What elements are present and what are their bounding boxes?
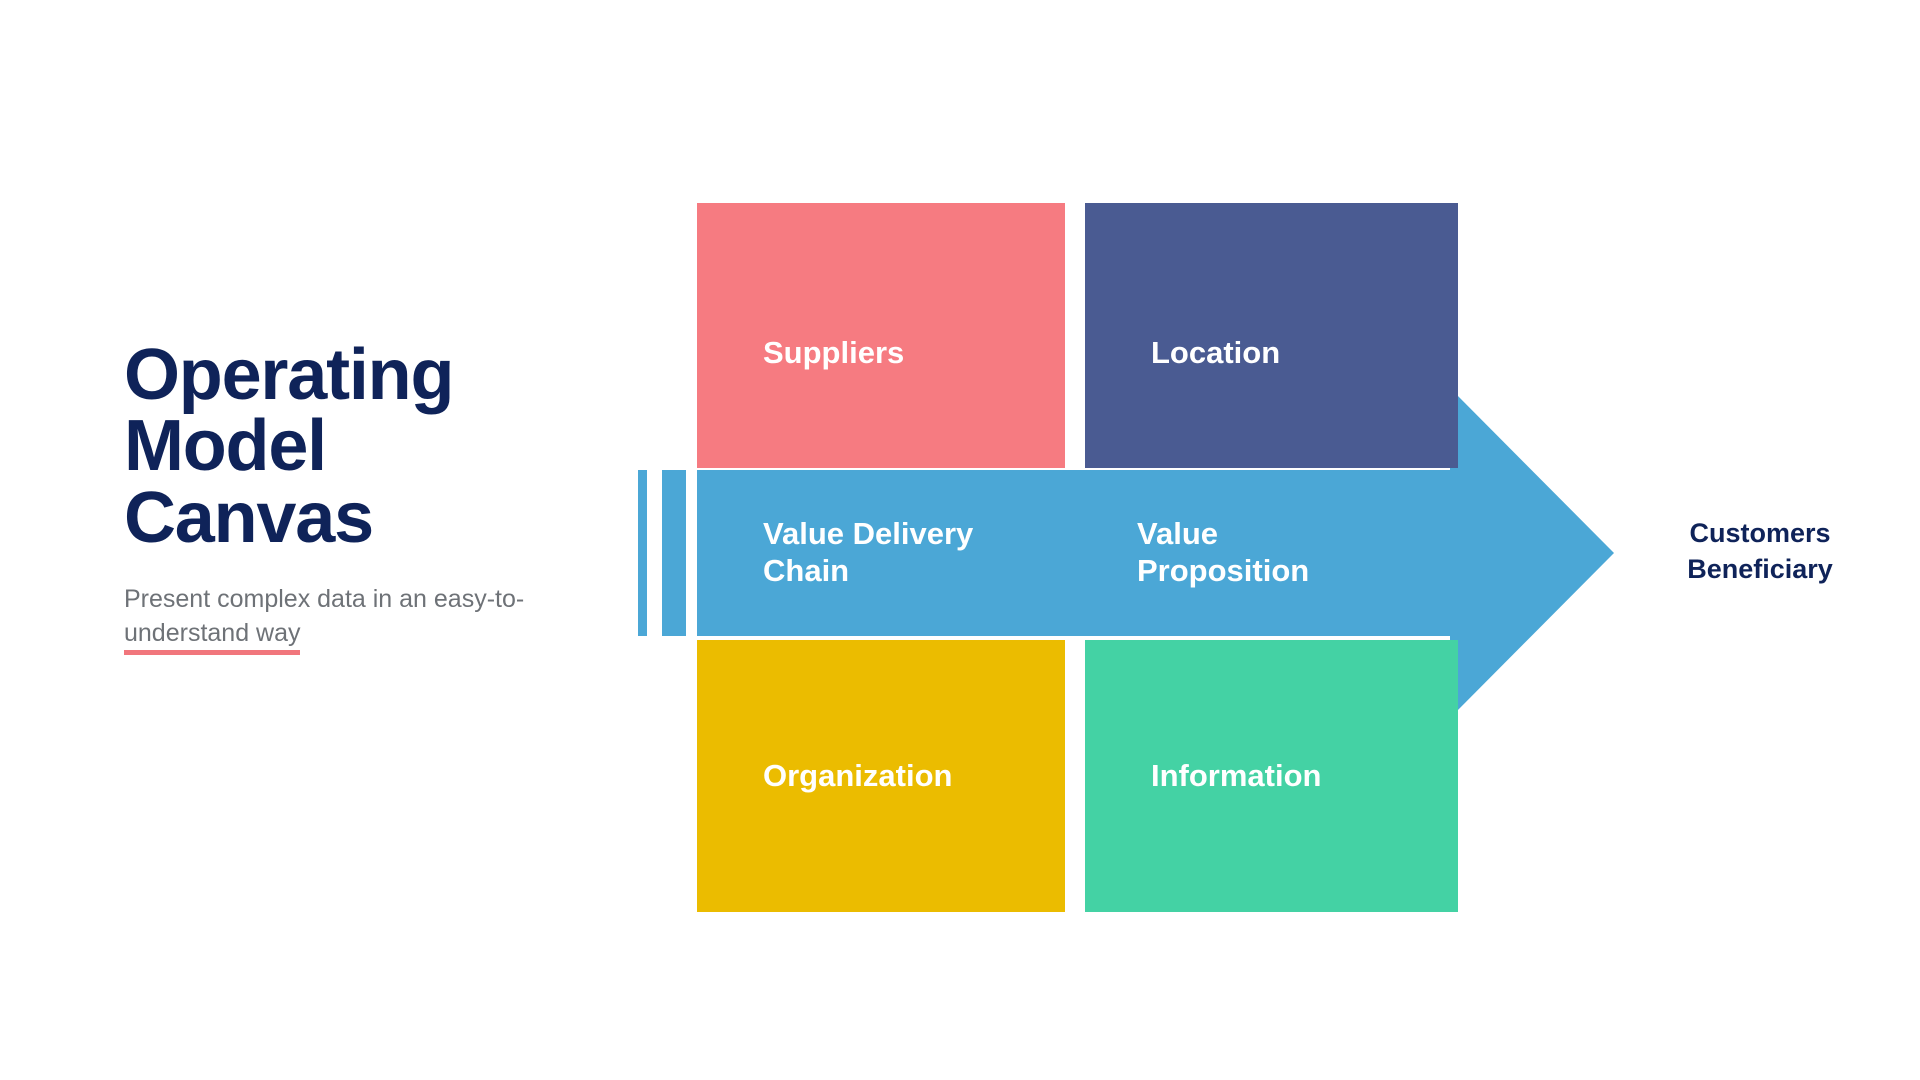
cell-label-location: Location xyxy=(1151,335,1280,372)
cell-label-organization: Organization xyxy=(763,758,952,795)
cell-information[interactable]: Information xyxy=(1085,640,1458,912)
arrow-tick-bar-1 xyxy=(638,470,647,636)
cell-location[interactable]: Location xyxy=(1085,203,1458,468)
arrow-head-icon xyxy=(1450,388,1614,718)
cell-organization[interactable]: Organization xyxy=(697,640,1065,912)
operating-model-canvas-diagram: Suppliers Location Value Delivery Chain … xyxy=(0,0,1920,1080)
cell-label-suppliers: Suppliers xyxy=(763,335,904,372)
arrow-target-label: Customers Beneficiary xyxy=(1644,516,1876,587)
arrow-tick-bar-2 xyxy=(662,470,686,636)
cell-label-value-delivery-chain: Value Delivery Chain xyxy=(763,516,973,589)
cell-value-delivery-chain[interactable]: Value Delivery Chain xyxy=(697,470,1065,636)
slide-canvas: Operating Model Canvas Present complex d… xyxy=(0,0,1920,1080)
cell-suppliers[interactable]: Suppliers xyxy=(697,203,1065,468)
cell-value-proposition[interactable]: Value Proposition xyxy=(1085,470,1458,636)
cell-label-value-proposition: Value Proposition xyxy=(1137,516,1309,589)
cell-label-information: Information xyxy=(1151,758,1322,795)
